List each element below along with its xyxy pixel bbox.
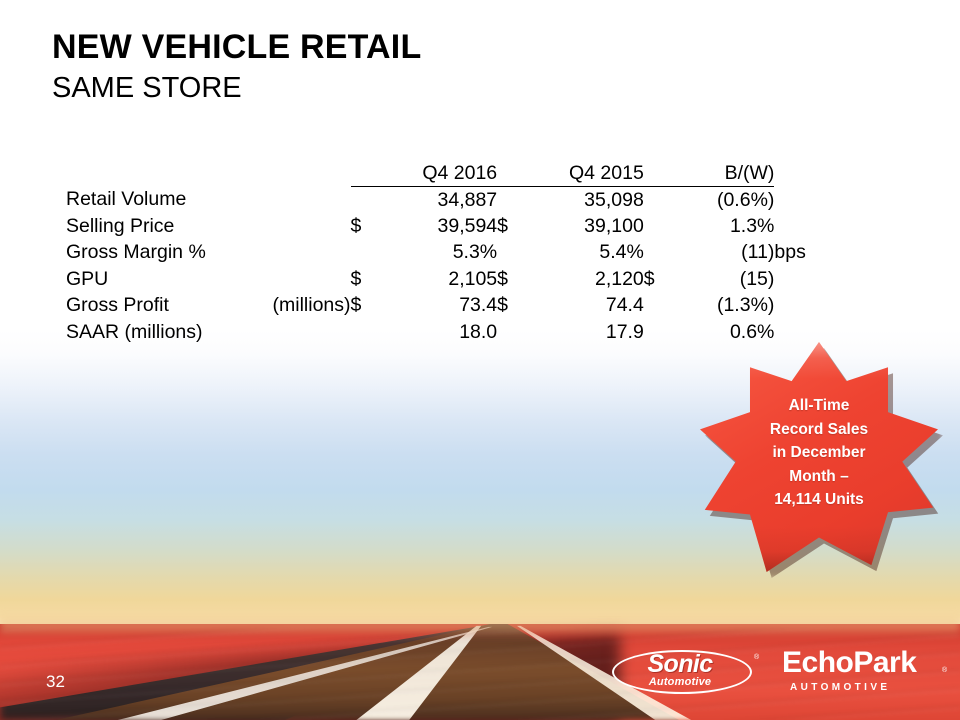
table-row: Selling Price$39,594$39,1001.3% (66, 213, 826, 240)
row-label: Selling Price (66, 213, 273, 240)
row-label-suffix (273, 319, 351, 346)
sonic-tagline: Automotive (618, 676, 742, 689)
q4-2016-currency: $ (351, 293, 381, 320)
table-header-row: Q4 2016 Q4 2015 B/(W) (66, 160, 826, 187)
echopark-automotive-logo: EchoPark ® AUTOMOTIVE (782, 645, 952, 699)
bw-suffix (774, 187, 826, 214)
sonic-wordmark: Sonic (618, 650, 742, 678)
row-label: GPU (66, 266, 273, 293)
sonic-automotive-logo: Sonic Automotive ® (604, 646, 760, 698)
q4-2015-value: 2,120 (527, 266, 644, 293)
table-body: Retail Volume34,88735,098(0.6%)Selling P… (66, 187, 826, 346)
table-row: Retail Volume34,88735,098(0.6%) (66, 187, 826, 214)
q4-2015-value: 35,098 (527, 187, 644, 214)
q4-2015-value: 39,100 (527, 213, 644, 240)
starburst-text-line: in December (772, 441, 865, 465)
row-label: Retail Volume (66, 187, 273, 214)
sonic-trademark-icon: ® (754, 654, 759, 661)
q4-2016-value: 2,105 (380, 266, 497, 293)
row-label-suffix (273, 240, 351, 267)
starburst-text-line: Month – (789, 465, 848, 489)
q4-2016-value: 34,887 (380, 187, 497, 214)
bw-suffix (774, 266, 826, 293)
row-label: SAAR (millions) (66, 319, 273, 346)
q4-2015-currency: $ (497, 213, 527, 240)
bw-currency (644, 240, 679, 267)
background-horizon-haze (0, 614, 960, 636)
slide-canvas: NEW VEHICLE RETAIL SAME STORE Q4 2016 Q4… (0, 0, 960, 720)
row-label-suffix: (millions) (273, 293, 351, 320)
bw-value: 1.3% (679, 213, 774, 240)
q4-2015-currency (497, 187, 527, 214)
row-label-suffix (273, 213, 351, 240)
q4-2016-value: 5.3% (380, 240, 497, 267)
header-label-blank (66, 160, 273, 187)
page-number: 32 (46, 672, 65, 692)
echopark-trademark-icon: ® (942, 667, 947, 674)
bw-value: (15) (679, 266, 774, 293)
q4-2016-value: 73.4 (380, 293, 497, 320)
bw-value: (0.6%) (679, 187, 774, 214)
table-row: Gross Profit(millions)$73.4$74.4(1.3%) (66, 293, 826, 320)
q4-2016-currency (351, 319, 381, 346)
header-suffix-blank (774, 160, 826, 187)
financial-table: Q4 2016 Q4 2015 B/(W) Retail Volume34,88… (66, 160, 826, 346)
bw-currency (644, 187, 679, 214)
header-q4-2015-currency-rule (497, 160, 527, 187)
header-q4-2016-currency-rule (351, 160, 381, 187)
page-title: NEW VEHICLE RETAIL (52, 26, 421, 68)
page-subtitle: SAME STORE (52, 70, 421, 106)
q4-2015-currency (497, 240, 527, 267)
q4-2015-value: 74.4 (527, 293, 644, 320)
header-bw-currency-rule (644, 160, 679, 187)
row-label-suffix (273, 187, 351, 214)
bw-suffix: bps (774, 240, 826, 267)
bw-currency (644, 293, 679, 320)
header-q4-2016: Q4 2016 (380, 160, 497, 187)
bw-currency (644, 319, 679, 346)
bw-currency (644, 213, 679, 240)
starburst-text-line: All-Time (789, 394, 850, 418)
q4-2015-currency (497, 319, 527, 346)
echopark-tagline: AUTOMOTIVE (790, 681, 942, 694)
starburst-text: All-TimeRecord Salesin DecemberMonth –14… (700, 342, 938, 572)
q4-2015-value: 17.9 (527, 319, 644, 346)
table-row: Gross Margin %5.3%5.4%(11)bps (66, 240, 826, 267)
q4-2016-currency (351, 187, 381, 214)
financial-table-wrapper: Q4 2016 Q4 2015 B/(W) Retail Volume34,88… (66, 160, 826, 346)
row-label: Gross Margin % (66, 240, 273, 267)
row-label: Gross Profit (66, 293, 273, 320)
q4-2015-currency: $ (497, 293, 527, 320)
row-label-suffix (273, 266, 351, 293)
q4-2016-value: 39,594 (380, 213, 497, 240)
table-row: GPU$2,105$2,120$(15) (66, 266, 826, 293)
bw-currency: $ (644, 266, 679, 293)
q4-2016-currency (351, 240, 381, 267)
bw-value: (1.3%) (679, 293, 774, 320)
q4-2015-currency: $ (497, 266, 527, 293)
header-q4-2015: Q4 2015 (527, 160, 644, 187)
q4-2016-currency: $ (351, 266, 381, 293)
echopark-wordmark: EchoPark (782, 645, 946, 681)
bw-suffix (774, 293, 826, 320)
starburst-text-line: 14,114 Units (774, 488, 864, 512)
starburst-text-line: Record Sales (770, 418, 868, 442)
record-sales-starburst-badge: All-TimeRecord Salesin DecemberMonth –14… (700, 342, 938, 572)
q4-2015-value: 5.4% (527, 240, 644, 267)
q4-2016-value: 18.0 (380, 319, 497, 346)
bw-value: (11) (679, 240, 774, 267)
bw-suffix (774, 213, 826, 240)
title-block: NEW VEHICLE RETAIL SAME STORE (52, 26, 421, 106)
q4-2016-currency: $ (351, 213, 381, 240)
header-bw: B/(W) (679, 160, 774, 187)
